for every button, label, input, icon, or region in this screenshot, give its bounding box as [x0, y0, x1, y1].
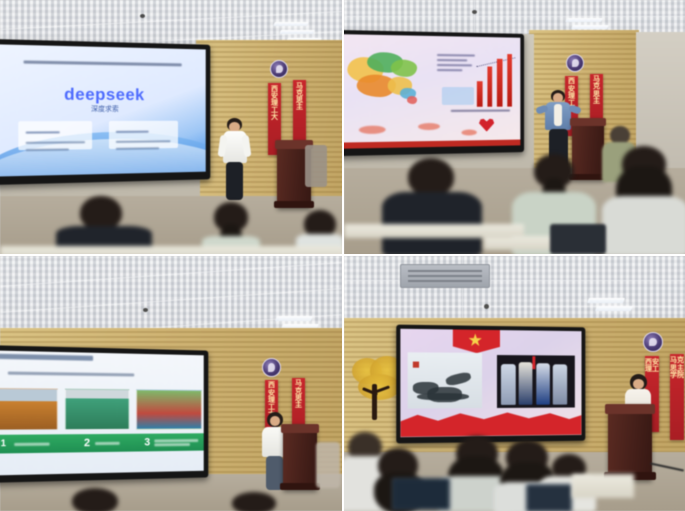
lectern: [608, 404, 652, 480]
projection-screen: 人工智能大模型与教育变革 deepseek 深度求索 汇报人 计算机科学与技术学…: [0, 39, 210, 185]
ceiling-vent: [400, 264, 490, 288]
university-emblem: [566, 54, 584, 72]
heart-graphic: [479, 118, 494, 132]
presenter: [218, 118, 252, 200]
ceiling-light: [595, 306, 633, 311]
chart-bar: [497, 59, 502, 107]
slide-subtitle: 深度求索: [0, 104, 206, 114]
wall-banner-text: 西安理工: [645, 359, 659, 373]
wall-banner-text: 西安理工大: [268, 86, 281, 122]
wall-banner: 马克思主学院: [670, 354, 684, 440]
wall-banner-text: 马克思主学院: [670, 357, 684, 378]
slide-deepseek: 人工智能大模型与教育变革 deepseek 深度求索 汇报人 计算机科学与技术学…: [0, 44, 206, 177]
collage-panel-top-left: 西安理工大 马克思主 人工智能大模型与教育变革 deepseek 深度求索: [0, 0, 342, 254]
red-wave-shape: [401, 408, 582, 437]
star-icon: ★: [468, 332, 483, 349]
wall-banner-text: 马克思主: [293, 83, 306, 112]
laptop: [392, 478, 450, 510]
projection-screen: 乡村振兴与农业发展路径 产业融合 · 科技赋能 · 绿色发展 1 特色种植: [0, 345, 208, 483]
slide-green-band: 1 特色种植 2 规模化生产 3 品牌化运营: [0, 434, 204, 454]
slide-photo: [0, 388, 58, 431]
desk: [572, 474, 634, 498]
slide-agriculture: 乡村振兴与农业发展路径 产业融合 · 科技赋能 · 绿色发展 1 特色种植: [0, 350, 204, 475]
lectern: [283, 424, 317, 490]
audience-member: [382, 158, 482, 254]
university-emblem: [270, 60, 288, 78]
performance-photo: 舞台演出照片: [497, 355, 575, 408]
desk: [0, 246, 342, 254]
china-map-graphic: 中国区域分布图: [344, 51, 433, 111]
ceiling-light: [273, 22, 309, 26]
photo-collage: 西安理工大 马克思主 人工智能大模型与教育变革 deepseek 深度求索: [0, 0, 685, 511]
slide-item-number: 2: [84, 437, 90, 449]
deepseek-logo: deepseek: [0, 84, 206, 105]
ink-painting: 长征水墨画: [408, 353, 482, 409]
slide-card-left: 汇报人 计算机科学与技术学院 / 2024级: [18, 121, 92, 150]
chart-bar: [477, 81, 482, 107]
wall-banner-text: 马克思主: [590, 76, 603, 105]
chart-bar: [487, 67, 492, 107]
collage-panel-bottom-left: 西安理工大 马克思主 乡村振兴与农业发展路径 产业融合 · 科技赋能 · 绿色: [0, 256, 342, 511]
slide-photo: [65, 388, 130, 430]
ceiling-light: [279, 30, 315, 34]
audience-member: [224, 492, 284, 511]
slide-item-number: 1: [1, 438, 6, 448]
ceiling-light: [565, 18, 603, 22]
projection-screen: 中国区域分布图: [344, 30, 524, 156]
slide-map-chart: 中国区域分布图: [344, 34, 520, 149]
ceiling-light: [275, 316, 313, 321]
bar-chart: [476, 52, 517, 107]
collage-panel-top-right: 西安理工大 马克思主: [344, 0, 685, 254]
collage-panel-bottom-right: 西安理工 马克思主学院 ★: [344, 256, 685, 511]
slide-patriotic: ★ 长征水墨画: [401, 329, 582, 437]
audience-member: [62, 488, 128, 511]
ceiling-light: [571, 25, 609, 29]
university-emblem: [262, 358, 281, 377]
slide-photo: [136, 389, 202, 430]
university-emblem: [643, 332, 663, 352]
ceiling-light: [587, 298, 625, 303]
map-label: 中国区域分布图: [344, 51, 433, 52]
audience-member: [602, 146, 685, 254]
slide-card-right: 指导教师 人工智能与机器人研究所: [109, 121, 178, 149]
laptop: [526, 484, 572, 511]
ink-art-label: 长征水墨画: [408, 353, 482, 354]
projection-screen: ★ 长征水墨画: [396, 325, 585, 444]
slide-item-number: 3: [144, 436, 150, 448]
wall-banner-text: 马克思主: [292, 380, 305, 409]
chart-bar: [507, 54, 512, 106]
